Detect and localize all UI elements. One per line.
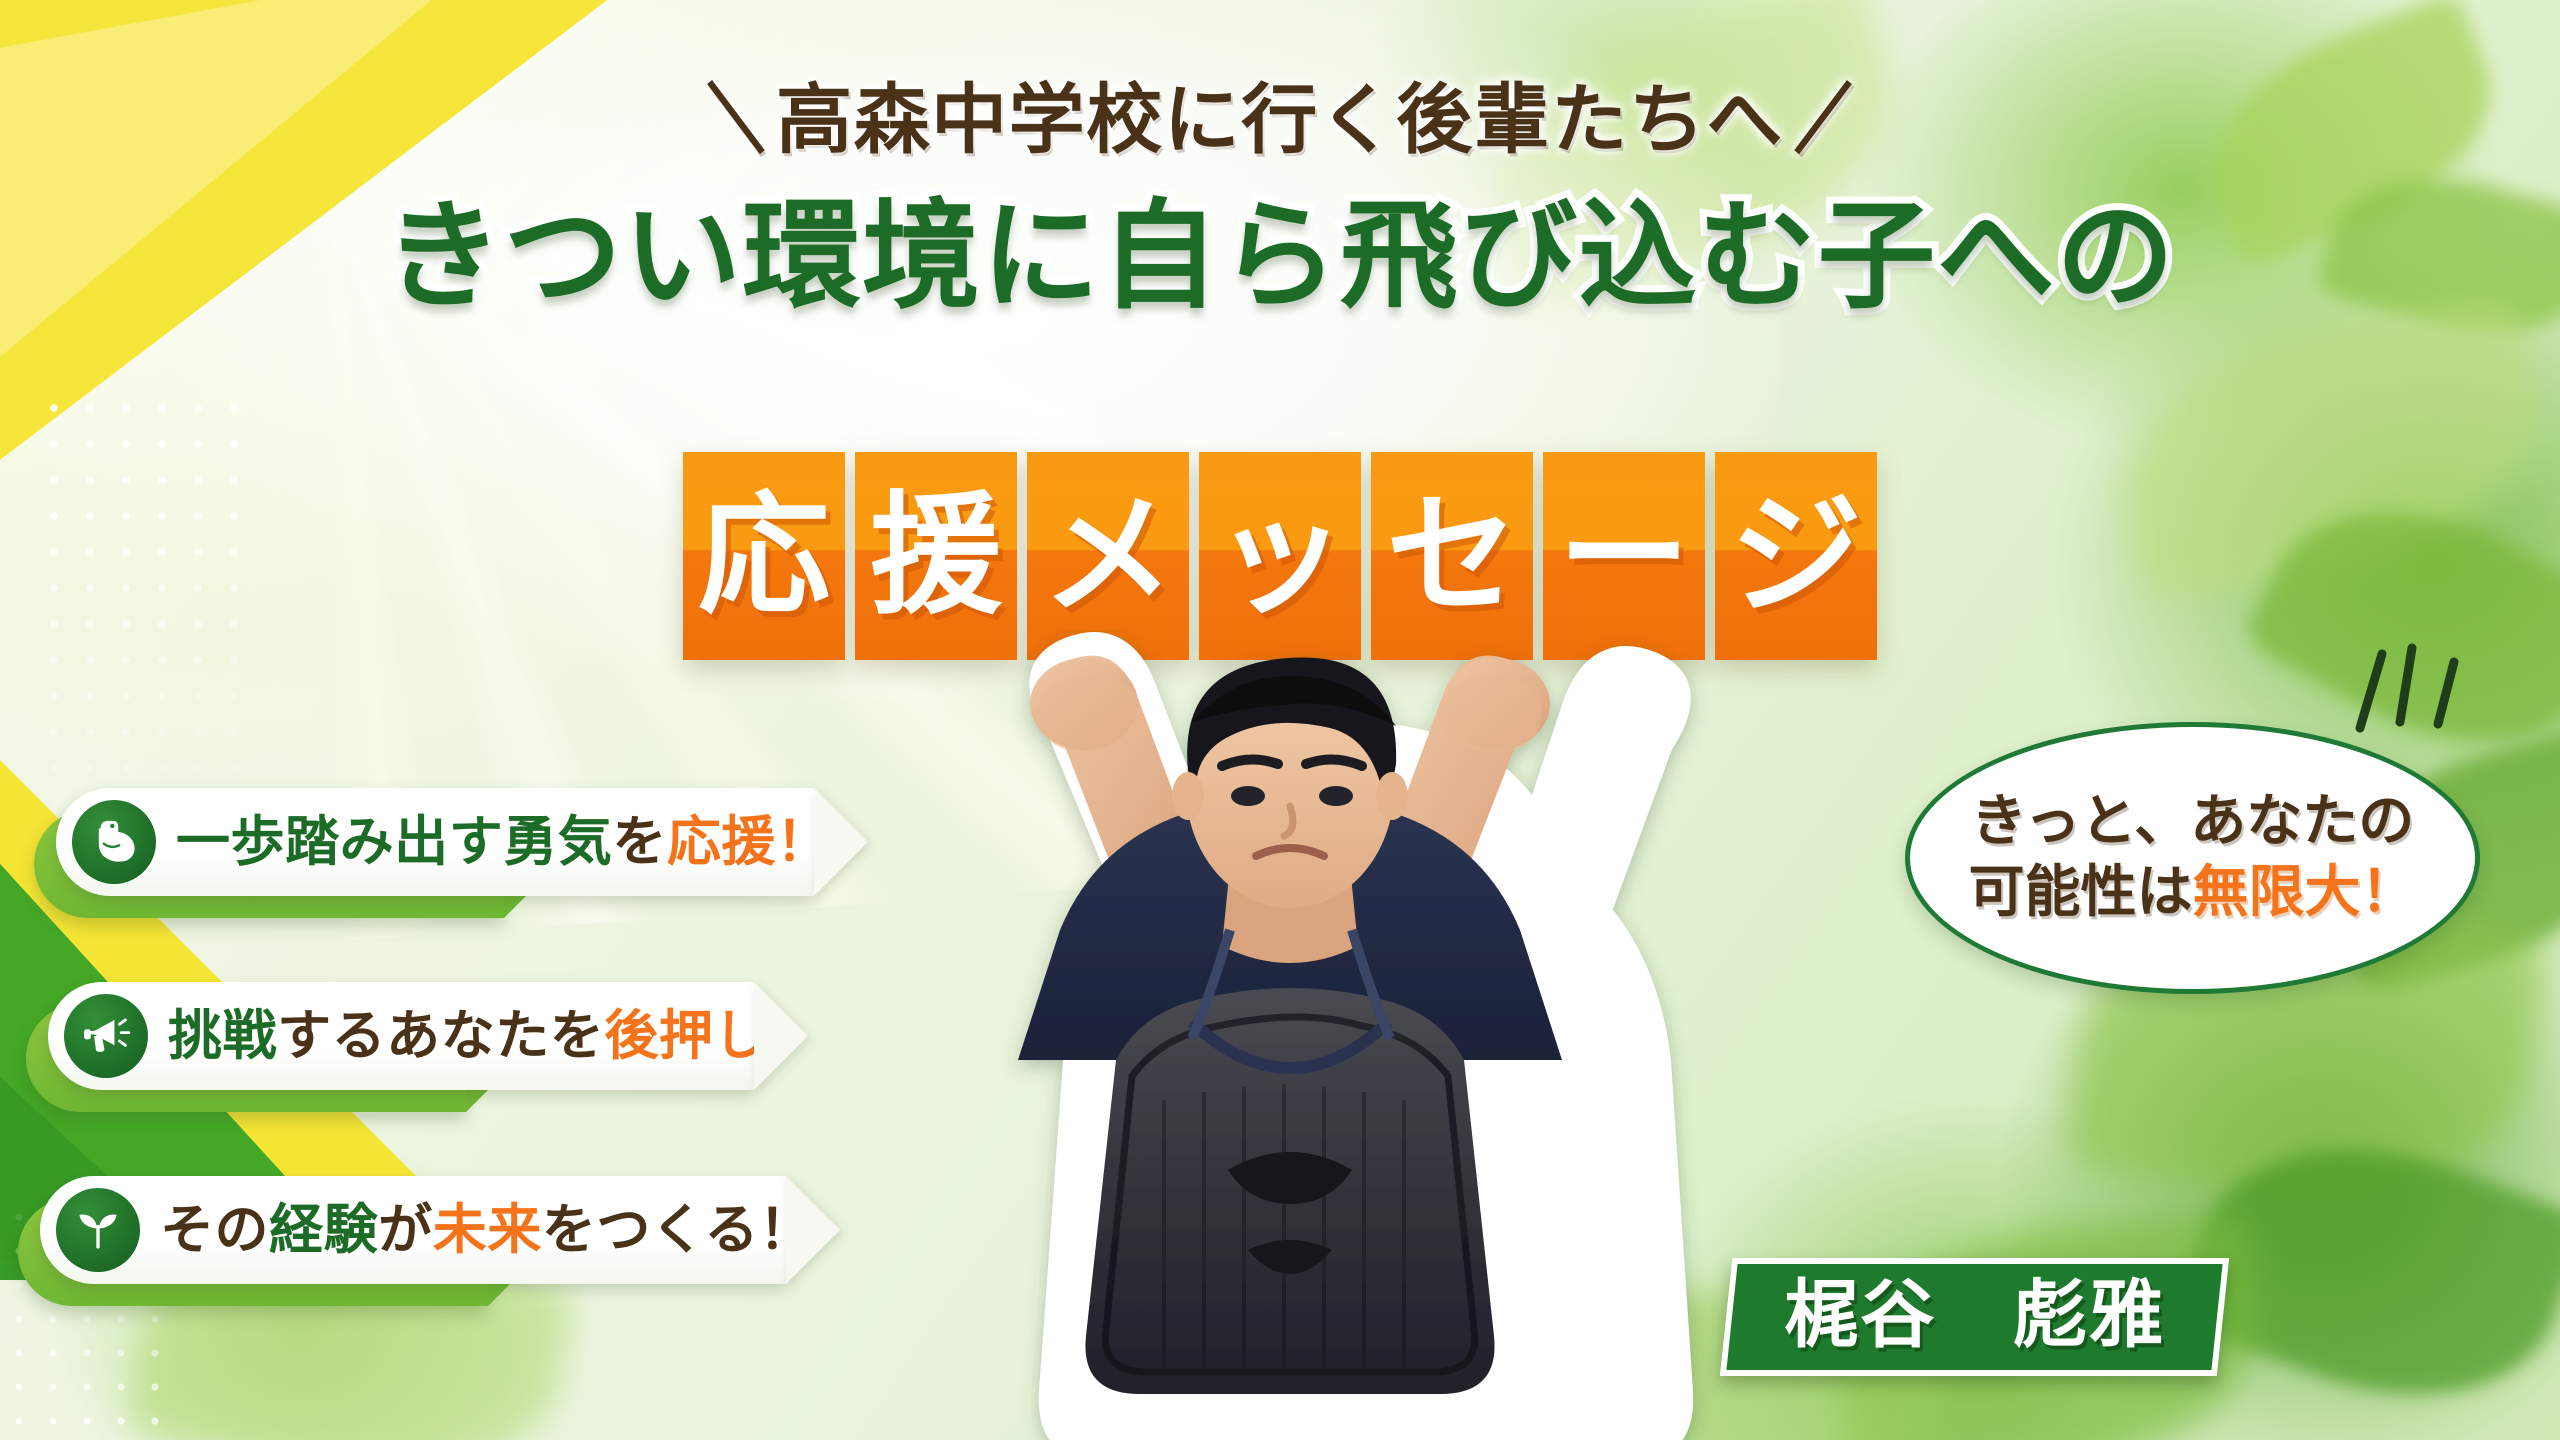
- feature-1-part-2: 勇気: [503, 810, 612, 873]
- feature-3-part-2: 経験: [269, 1198, 378, 1261]
- feature-3-part-5: をつくる！: [542, 1198, 814, 1261]
- sparkle-lines-icon: [2342, 636, 2472, 746]
- tile-char: セ: [1371, 452, 1533, 660]
- bubble-line-2-accent: 無限大！: [2193, 860, 2417, 925]
- tile-char-label: メ: [1042, 490, 1174, 622]
- bubble-line-1: きっと、あなたの: [1971, 793, 2415, 852]
- tile-char: 応: [683, 452, 845, 660]
- tile-char-label: 応: [698, 490, 830, 622]
- speech-bubble: きっと、あなたの 可能性は無限大！: [1905, 722, 2480, 994]
- feature-text-1: 一歩踏み出す勇気を応援！: [176, 815, 865, 869]
- feature-2-part-1: 挑戦: [168, 1004, 277, 1067]
- tile-char: ジ: [1715, 452, 1877, 660]
- tile-char: 援: [855, 452, 1017, 660]
- tile-char-label: 援: [870, 490, 1002, 622]
- tile-char: ー: [1543, 452, 1705, 660]
- kicker-text: 高森中学校に行く後輩たちへ: [776, 75, 1784, 164]
- feature-1-part-4: 応援！: [667, 810, 831, 873]
- tile-word-group: 応 援 メ ッ セ ー ジ: [683, 452, 1877, 660]
- tile-char-label: ジ: [1730, 490, 1862, 622]
- speaker-nameplate: 梶谷 彪雅: [1720, 1258, 2230, 1376]
- feature-2-part-2: するあなたを: [277, 1004, 604, 1067]
- tile-char-label: ッ: [1214, 490, 1346, 622]
- kicker-slash-right: ／: [1770, 58, 1875, 168]
- feature-1-part-3: を: [612, 810, 667, 873]
- tile-char-label: セ: [1386, 490, 1518, 622]
- kicker-line: ＼高森中学校に行く後輩たちへ／: [0, 58, 2560, 168]
- feature-text-2: 挑戦するあなたを後押し！: [168, 1009, 857, 1063]
- feature-1-part-1: 一歩踏み出す: [176, 810, 503, 873]
- flexed-bicep-icon: [72, 800, 156, 884]
- page-title: きつい環境に自ら飛び込む子への: [0, 160, 2560, 331]
- sprout-icon: [56, 1188, 140, 1272]
- tile-char: ッ: [1199, 452, 1361, 660]
- person-photo-cutout: [760, 630, 1820, 1440]
- megaphone-icon: [64, 994, 148, 1078]
- kicker-slash-left: ＼: [685, 58, 790, 168]
- feature-ribbon-2: 挑戦するあなたを後押し！: [48, 982, 754, 1090]
- feature-3-part-1: その: [160, 1198, 269, 1261]
- feature-ribbon-3: その経験が未来をつくる！: [40, 1176, 786, 1284]
- speaker-name: 梶谷 彪雅: [1784, 1278, 2165, 1352]
- feature-ribbon-1: 一歩踏み出す勇気を応援！: [56, 788, 814, 896]
- tile-char-label: ー: [1558, 490, 1690, 622]
- tile-char: メ: [1027, 452, 1189, 660]
- feature-3-part-4: 未来: [433, 1198, 542, 1261]
- feature-3-part-3: が: [378, 1198, 433, 1261]
- feature-2-part-3: 後押し！: [604, 1004, 822, 1067]
- bubble-line-2-plain: 可能性は: [1969, 860, 2193, 925]
- feature-text-3: その経験が未来をつくる！: [160, 1203, 847, 1257]
- bubble-line-2: 可能性は無限大！: [1969, 864, 2417, 923]
- campaign-banner: ＼高森中学校に行く後輩たちへ／ きつい環境に自ら飛び込む子への 応 援 メ ッ …: [0, 0, 2560, 1440]
